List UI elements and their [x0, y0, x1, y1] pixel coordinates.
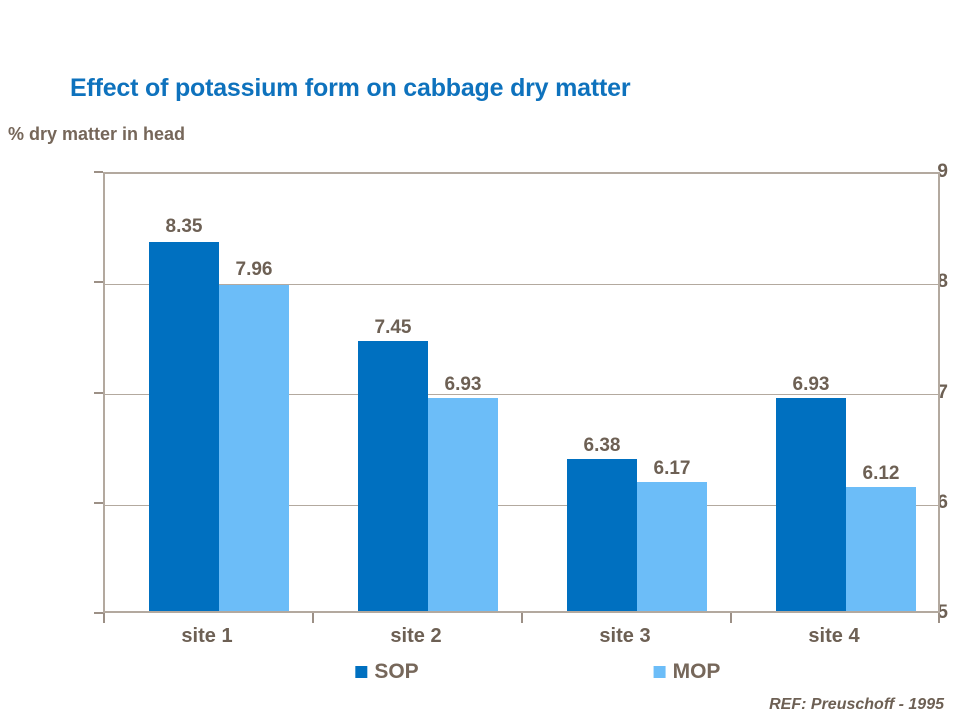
legend-swatch-mop-icon: [654, 666, 666, 678]
x-tick-mark-2: [521, 613, 523, 623]
y-tick-mark-5: [94, 612, 103, 614]
value-label-site4-mop: 6.12: [863, 463, 900, 485]
bar-site4-mop[interactable]: [846, 487, 916, 611]
bar-site4-sop[interactable]: [776, 398, 846, 611]
y-tick-mark-9: [94, 171, 103, 173]
bar-site1-sop[interactable]: [149, 242, 219, 611]
reference-note: REF: Preuschoff - 1995: [769, 696, 944, 714]
x-tick-mark-1: [312, 613, 314, 623]
value-label-site4-sop: 6.93: [793, 374, 830, 396]
y-tick-mark-8: [94, 281, 103, 283]
value-label-site1-mop: 7.96: [236, 259, 273, 281]
bar-site3-sop[interactable]: [567, 459, 637, 611]
bar-site2-mop[interactable]: [428, 398, 498, 611]
y-tick-mark-6: [94, 502, 103, 504]
x-tick-label-site-4: site 4: [808, 625, 859, 648]
bar-site3-mop[interactable]: [637, 482, 707, 611]
legend-item-sop[interactable]: SOP: [355, 660, 418, 684]
x-tick-label-site-2: site 2: [390, 625, 441, 648]
value-label-site2-mop: 6.93: [445, 374, 482, 396]
x-tick-label-site-1: site 1: [181, 625, 232, 648]
legend-item-mop[interactable]: MOP: [654, 660, 721, 684]
bar-site1-mop[interactable]: [219, 285, 289, 611]
value-label-site1-sop: 8.35: [166, 216, 203, 238]
plot-area: 8.35 7.96 7.45 6.93 6.38 6.17 6.93 6.12: [103, 172, 940, 613]
x-axis: site 1 site 2 site 3 site 4: [103, 613, 940, 653]
x-tick-mark-3: [730, 613, 732, 623]
bar-site2-sop[interactable]: [358, 341, 428, 611]
legend-label-mop: MOP: [673, 660, 721, 684]
chart-legend: SOP MOP: [103, 660, 940, 688]
legend-swatch-sop-icon: [355, 666, 367, 678]
chart-title: Effect of potassium form on cabbage dry …: [70, 74, 630, 103]
legend-label-sop: SOP: [374, 660, 418, 684]
value-label-site3-sop: 6.38: [584, 435, 621, 457]
x-tick-mark-4: [938, 613, 940, 623]
x-tick-label-site-3: site 3: [599, 625, 650, 648]
y-axis-caption: % dry matter in head: [8, 124, 185, 145]
value-label-site3-mop: 6.17: [654, 458, 691, 480]
x-tick-mark-0: [103, 613, 105, 623]
y-tick-mark-7: [94, 392, 103, 394]
value-label-site2-sop: 7.45: [375, 317, 412, 339]
